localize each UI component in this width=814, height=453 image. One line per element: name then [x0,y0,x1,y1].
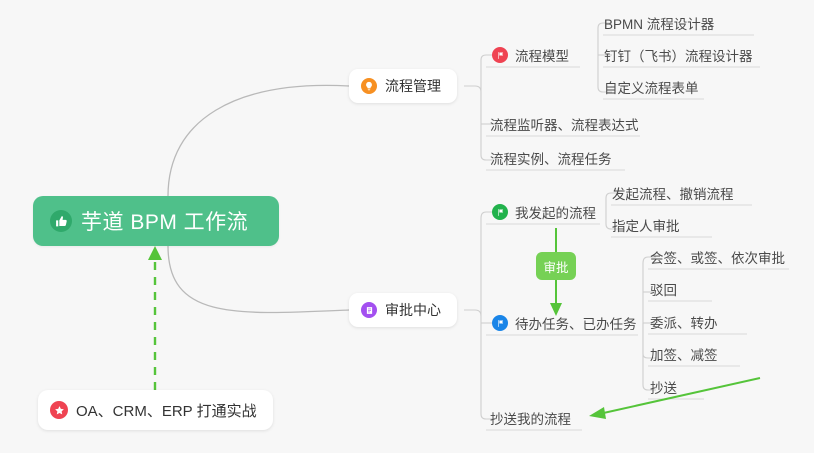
annotation-arrowhead-left [589,407,606,419]
mindmap-canvas: 芋道 BPM 工作流 流程管理 流程模型 BPMN 流程设计器 钉钉（飞书）流程… [0,0,814,453]
node-todo-done-tasks-label: 待办任务、已办任务 [515,313,637,333]
leaf-cc[interactable]: 抄送 [650,375,677,399]
leaf-bpmn-designer-label: BPMN 流程设计器 [604,13,714,33]
flag-icon [492,47,508,63]
branch-process-management[interactable]: 流程管理 [349,69,457,103]
leaf-initiate-cancel-label: 发起流程、撤销流程 [612,183,734,203]
leaf-assignee-approval[interactable]: 指定人审批 [612,213,680,237]
leaf-delegate-transfer-label: 委派、转办 [650,312,718,332]
annotation-arrowhead-up [148,246,162,260]
node-my-processes-label: 我发起的流程 [515,202,596,222]
leaf-add-remove-sign-label: 加签、减签 [650,344,718,364]
leaf-process-listener[interactable]: 流程监听器、流程表达式 [490,112,639,136]
leaf-process-instance-label: 流程实例、流程任务 [490,148,612,168]
leaf-process-instance[interactable]: 流程实例、流程任务 [490,146,612,170]
edge-approval-center-trunk [464,310,494,419]
leaf-custom-form-label: 自定义流程表单 [604,77,699,97]
leaf-cc-my-processes[interactable]: 抄送我的流程 [490,406,571,430]
leaf-dingtalk-designer[interactable]: 钉钉（飞书）流程设计器 [604,43,753,67]
lightbulb-icon [361,78,377,94]
leaf-custom-form[interactable]: 自定义流程表单 [604,75,699,99]
leaf-delegate-transfer[interactable]: 委派、转办 [650,310,718,334]
branch-approval-center[interactable]: 审批中心 [349,293,457,327]
clipboard-icon [361,302,377,318]
annotation-chip-approval: 审批 [536,252,576,280]
leaf-cc-label: 抄送 [650,377,677,397]
edge-approval-center-to-my-processes [481,212,494,316]
branch-process-management-label: 流程管理 [385,76,441,96]
node-todo-done-tasks[interactable]: 待办任务、已办任务 [492,311,641,335]
annotation-line-cc-to-ccmine [599,378,760,414]
leaf-countersign-label: 会签、或签、依次审批 [650,247,785,267]
edge-root-to-process-management [168,85,349,196]
annotation-chip-label: 审批 [543,257,568,276]
flag-icon [492,204,508,220]
node-my-processes[interactable]: 我发起的流程 [492,200,600,224]
star-icon [50,401,68,419]
leaf-cc-my-processes-label: 抄送我的流程 [490,408,571,428]
leaf-process-listener-label: 流程监听器、流程表达式 [490,114,639,134]
leaf-dingtalk-designer-label: 钉钉（飞书）流程设计器 [604,45,753,65]
thumbs-up-icon [50,210,72,232]
root-label: 芋道 BPM 工作流 [81,206,248,236]
leaf-initiate-cancel[interactable]: 发起流程、撤销流程 [612,181,734,205]
node-process-model-label: 流程模型 [515,45,569,65]
edge-root-to-approval-center [168,246,349,313]
flag-icon [492,315,508,331]
root-node[interactable]: 芋道 BPM 工作流 [33,196,279,246]
leaf-add-remove-sign[interactable]: 加签、减签 [650,342,718,366]
branch-approval-center-label: 审批中心 [385,300,441,320]
leaf-assignee-approval-label: 指定人审批 [612,215,680,235]
footnote-label: OA、CRM、ERP 打通实战 [76,400,257,421]
footnote-node[interactable]: OA、CRM、ERP 打通实战 [38,390,273,430]
leaf-countersign[interactable]: 会签、或签、依次审批 [650,245,785,269]
leaf-bpmn-designer[interactable]: BPMN 流程设计器 [604,11,714,35]
leaf-reject-label: 驳回 [650,279,677,299]
leaf-reject[interactable]: 驳回 [650,277,677,301]
node-process-model[interactable]: 流程模型 [492,43,573,67]
